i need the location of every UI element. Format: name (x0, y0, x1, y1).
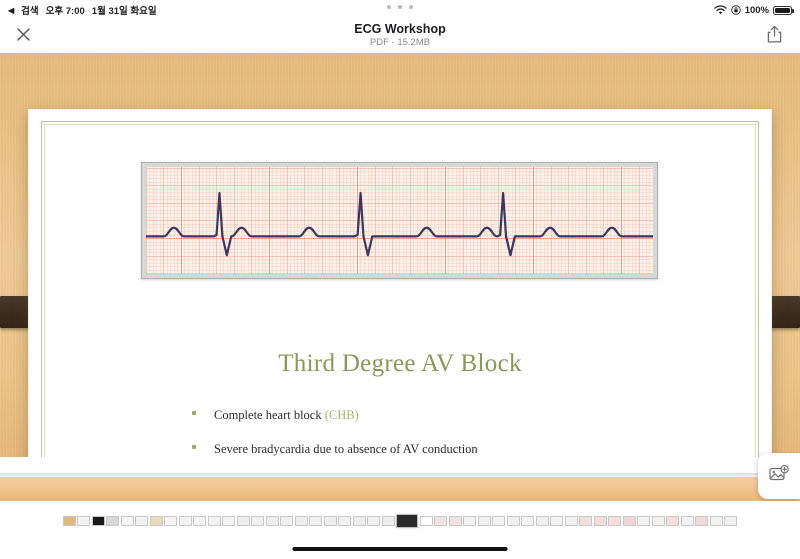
ecg-strip-frame (141, 162, 658, 279)
bullet-icon (192, 445, 196, 449)
nav-bar: ECG Workshop PDF - 15.2MB (0, 20, 800, 53)
thumbnail-page[interactable] (550, 516, 563, 526)
thumbnail-preview (252, 517, 263, 525)
thumbnail-preview (383, 517, 394, 525)
thumbnail-preview (508, 517, 519, 525)
thumbnail-preview (421, 517, 432, 525)
thumbnail-preview (609, 517, 620, 525)
home-indicator[interactable] (293, 547, 508, 552)
thumbnail-preview (638, 517, 649, 525)
thumbnail-page[interactable] (295, 516, 308, 526)
thumbnail-preview (151, 517, 162, 525)
list-item: Complete heart block (CHB) (189, 406, 621, 424)
thumbnail-page[interactable] (237, 516, 250, 526)
back-app-label[interactable]: 검색 (21, 3, 38, 17)
thumbnail-page[interactable] (77, 516, 90, 526)
thumbnail-preview (325, 517, 336, 525)
bullet-icon (192, 411, 196, 415)
thumbnail-preview (64, 517, 75, 525)
handle-dot (409, 5, 413, 9)
thumbnail-page[interactable] (135, 516, 148, 526)
thumbnail-page[interactable] (608, 516, 621, 526)
thumbnail-page[interactable] (695, 516, 708, 526)
wifi-icon (714, 5, 727, 15)
thumbnail-preview (580, 517, 591, 525)
thumbnail-page[interactable] (536, 516, 549, 526)
thumbnail-page[interactable] (353, 516, 366, 526)
thumbnail-preview (78, 517, 89, 525)
thumbnail-preview (667, 517, 678, 525)
thumbnail-preview (711, 517, 722, 525)
thumbnail-page[interactable] (382, 516, 395, 526)
thumbnail-page[interactable] (565, 516, 578, 526)
thumbnail-page[interactable] (150, 516, 163, 526)
thumbnail-page[interactable] (63, 516, 76, 526)
status-bar-left: ◀ 검색 오후 7:00 1월 31일 화요일 (8, 3, 157, 17)
status-bar-right: 100% (714, 5, 792, 16)
thumbnail-preview (397, 515, 417, 527)
multitasking-handle[interactable] (387, 5, 413, 9)
document-canvas[interactable]: Third Degree AV Block Complete heart blo… (0, 53, 800, 501)
thumbnail-page[interactable] (420, 516, 433, 526)
thumbnail-page[interactable] (193, 516, 206, 526)
thumbnail-preview (339, 517, 350, 525)
thumbnail-preview (136, 517, 147, 525)
thumbnail-page[interactable] (666, 516, 679, 526)
thumbnail-page[interactable] (594, 516, 607, 526)
ipad-pdf-viewer: ◀ 검색 오후 7:00 1월 31일 화요일 (0, 0, 800, 559)
thumbnail-page[interactable] (724, 516, 737, 526)
thumbnail-page[interactable] (338, 516, 351, 526)
thumbnail-preview (624, 517, 635, 525)
slide-title: Third Degree AV Block (29, 350, 771, 378)
thumbnail-preview (368, 517, 379, 525)
battery-full-icon (773, 6, 792, 15)
thumbnail-preview (107, 517, 118, 525)
thumbnail-page[interactable] (492, 516, 505, 526)
thumbnail-preview (493, 517, 504, 525)
share-icon (766, 25, 783, 49)
list-item: Severe bradycardia due to absence of AV … (189, 440, 621, 458)
add-media-icon (769, 465, 789, 488)
thumbnail-page[interactable] (222, 516, 235, 526)
status-bar: ◀ 검색 오후 7:00 1월 31일 화요일 (0, 0, 800, 20)
thumbnail-page[interactable] (478, 516, 491, 526)
thumbnail-page[interactable] (208, 516, 221, 526)
thumbnail-page[interactable] (92, 516, 105, 526)
thumbnail-page[interactable] (449, 516, 462, 526)
handle-dot (398, 5, 402, 9)
thumbnail-preview (238, 517, 249, 525)
thumbnail-page[interactable] (434, 516, 447, 526)
ecg-trace (146, 167, 653, 274)
page-thumbnail-strip[interactable] (0, 501, 800, 541)
thumbnail-page[interactable] (579, 516, 592, 526)
thumbnail-preview (354, 517, 365, 525)
thumbnail-preview (653, 517, 664, 525)
thumbnail-preview (296, 517, 307, 525)
document-title-block: ECG Workshop PDF - 15.2MB (0, 22, 800, 49)
bullet-text-highlight: (CHB) (325, 408, 359, 422)
share-button[interactable] (762, 25, 786, 49)
thumbnail-preview (165, 517, 176, 525)
handle-dot (387, 5, 391, 9)
thumbnail-page[interactable] (521, 516, 534, 526)
thumbnail-preview (209, 517, 220, 525)
thumbnail-page[interactable] (280, 516, 293, 526)
status-date: 1월 31일 화요일 (92, 3, 157, 17)
thumbnail-page[interactable] (121, 516, 134, 526)
thumbnail-preview (696, 517, 707, 525)
bullet-text-pre: Severe bradycardia due to absence of AV … (214, 442, 478, 456)
rotation-lock-icon (731, 5, 741, 15)
thumbnail-preview (281, 517, 292, 525)
thumbnail-page[interactable] (251, 516, 264, 526)
thumbnail-page[interactable] (266, 516, 279, 526)
ecg-rhythm-strip (146, 167, 653, 274)
thumbnail-page[interactable] (637, 516, 650, 526)
thumbnail-preview (310, 517, 321, 525)
thumbnail-preview (479, 517, 490, 525)
thumbnail-page[interactable] (652, 516, 665, 526)
document-title: ECG Workshop (0, 22, 800, 37)
thumbnail-preview (537, 517, 548, 525)
thumbnail-page[interactable] (681, 516, 694, 526)
thumbnail-preview (551, 517, 562, 525)
thumbnail-page[interactable] (507, 516, 520, 526)
thumbnail-preview (122, 517, 133, 525)
thumbnail-preview (682, 517, 693, 525)
thumbnail-preview (93, 517, 104, 525)
thumbnail-page[interactable] (106, 516, 119, 526)
back-arrow-icon[interactable]: ◀ (8, 6, 14, 15)
thumbnail-preview (223, 517, 234, 525)
thumbnail-preview (435, 517, 446, 525)
battery-percent-label: 100% (745, 5, 769, 16)
thumbnail-preview (450, 517, 461, 525)
pdf-page[interactable]: Third Degree AV Block Complete heart blo… (28, 109, 772, 501)
thumbnail-preview (180, 517, 191, 525)
thumbnail-current[interactable] (396, 514, 418, 528)
document-subtitle: PDF - 15.2MB (0, 37, 800, 49)
thumbnail-preview (522, 517, 533, 525)
thumbnail-preview (464, 517, 475, 525)
bullet-text-pre: Complete heart block (214, 408, 325, 422)
status-time: 오후 7:00 (46, 3, 85, 17)
battery-fill (775, 8, 790, 13)
thumbnail-page[interactable] (367, 516, 380, 526)
thumbnail-page[interactable] (623, 516, 636, 526)
add-media-button[interactable] (758, 453, 800, 499)
thumbnail-page[interactable] (309, 516, 322, 526)
thumbnail-page[interactable] (710, 516, 723, 526)
thumbnail-page[interactable] (164, 516, 177, 526)
thumbnail-page[interactable] (463, 516, 476, 526)
thumbnail-preview (595, 517, 606, 525)
thumbnail-preview (725, 517, 736, 525)
thumbnail-preview (267, 517, 278, 525)
thumbnail-preview (566, 517, 577, 525)
desk-edge (0, 457, 800, 501)
thumbnail-page[interactable] (179, 516, 192, 526)
thumbnail-preview (194, 517, 205, 525)
thumbnail-page[interactable] (324, 516, 337, 526)
